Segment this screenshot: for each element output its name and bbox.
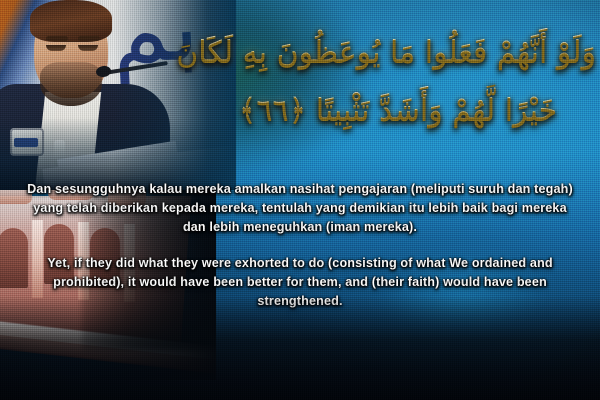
indonesian-translation-block: Dan sesungguhnya kalau mereka amalkan na… [0,180,600,237]
arabic-verse-block: وَلَوْ أَنَّهُمْ فَعَلُوا مَا يُوعَظُونَ… [200,28,596,136]
arabic-verse-line-2: خَيْرًا لَّهُمْ وَأَشَدَّ تَثْبِيتًا ﴿٦٦… [200,86,596,136]
subtitle-area: Dan sesungguhnya kalau mereka amalkan na… [0,180,600,311]
bottom-fade-overlay [0,296,600,400]
tv-broadcast-screenshot: بم وَلَوْ أَنَّهُمْ فَعَلُوا مَا يُوعَظُ… [0,0,600,400]
indonesian-translation-text: Dan sesungguhnya kalau mereka amalkan na… [22,180,578,237]
arabic-verse-line-1: وَلَوْ أَنَّهُمْ فَعَلُوا مَا يُوعَظُونَ… [200,28,596,78]
